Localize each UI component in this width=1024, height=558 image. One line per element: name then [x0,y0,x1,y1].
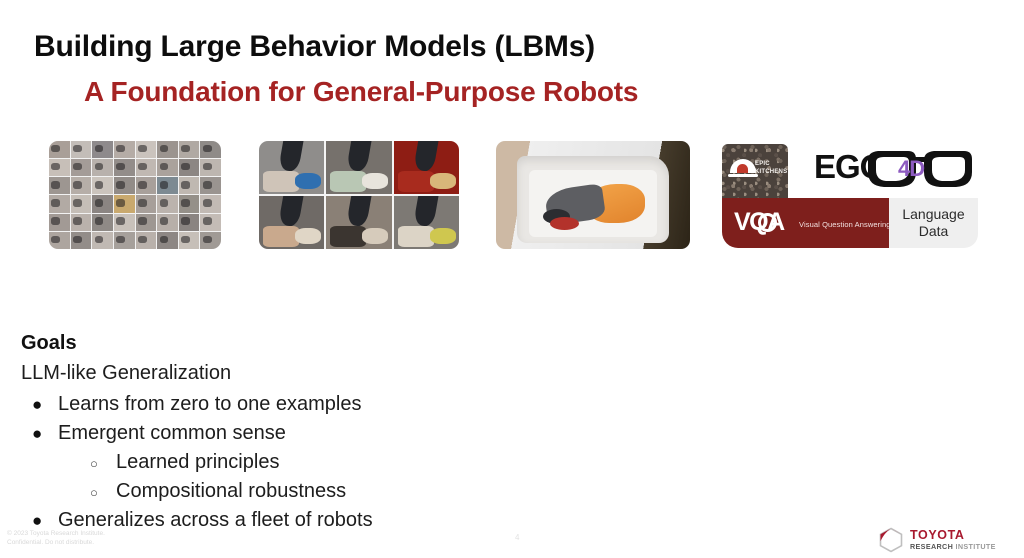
thumbnail-cell [136,141,157,158]
thumbnail-cell [136,232,157,249]
robot-arm-shape [278,141,303,172]
list-item: ○ Learned principles [21,448,621,477]
thumbnail-cell [114,214,135,231]
task-cell [326,141,391,194]
bullet-icon: ○ [90,478,116,507]
robot-arm-shape [346,196,371,227]
thumbnail-cell [114,195,135,212]
epic-kitchens-line2: KITCHENS [755,168,787,176]
epic-kitchens-logo: EPIC KITCHENS [722,144,788,202]
thumbnail-cell [200,214,221,231]
thumbnail-cell [49,195,70,212]
thumbnail-cell [179,214,200,231]
thumbnail-cell [200,141,221,158]
task-cell [394,141,459,194]
toyota-research-institute-logo: TOYOTA RESEARCH INSTITUTE [878,526,1002,553]
task-grid [259,141,459,249]
tri-sub-light: INSTITUTE [953,542,996,551]
object-shape [295,173,321,189]
task-cell [259,196,324,249]
dataset-thumbnail-grid-image [49,141,221,249]
slide-canvas: Building Large Behavior Models (LBMs) A … [0,0,1024,558]
list-item: ○ Compositional robustness [21,477,621,506]
list-item: ● Emergent common sense [21,419,621,448]
thumbnail-cell [71,159,92,176]
list-item: ● Learns from zero to one examples [21,390,621,419]
object-shape [330,226,366,247]
image-strip: EPIC KITCHENS EGO 4D VQA [0,138,1024,258]
language-data-text: Language Data [902,206,964,240]
object-shape [430,228,456,244]
thumbnail-cell [179,159,200,176]
data-source-logos: EPIC KITCHENS EGO 4D VQA [722,138,978,254]
thumbnail-cell [136,177,157,194]
thumbnail-cell [157,177,178,194]
thumbnail-cell [71,195,92,212]
robot-arm-shape [346,141,371,172]
robot-arm-shape [413,141,438,172]
thumbnail-cell [179,195,200,212]
thumbnail-cell [179,232,200,249]
object-shape [263,226,299,247]
epic-kitchens-line1: EPIC [755,160,787,168]
thumbnail-cell [114,232,135,249]
robot-arm-shape [278,196,303,227]
list-item-label: Compositional robustness [116,477,346,506]
object-shape [398,226,434,247]
thumbnail-cell [114,177,135,194]
thumbnail-cell [200,177,221,194]
thumbnail-cell [71,232,92,249]
bullet-icon: ● [32,390,58,419]
thumbnail-cell [114,159,135,176]
cloche-base-icon [728,174,758,177]
list-item: ● Generalizes across a fleet of robots [21,506,621,535]
tri-subtitle: RESEARCH INSTITUTE [910,542,996,551]
object-shape [330,171,366,192]
thumbnail-cell [49,214,70,231]
page-subtitle: A Foundation for General-Purpose Robots [84,76,638,108]
goals-heading: Goals [21,332,77,355]
thumbnail-cell [136,195,157,212]
thumbnail-cell [92,232,113,249]
thumbnail-grid [49,141,221,249]
epic-kitchens-label: EPIC KITCHENS [755,160,787,176]
thumbnail-cell [200,159,221,176]
thumbnail-cell [49,177,70,194]
goals-list: ● Learns from zero to one examples ● Eme… [21,390,621,535]
list-item-label: Generalizes across a fleet of robots [58,506,373,535]
thumbnail-cell [179,177,200,194]
ego4d-4d-text: 4D [898,156,924,182]
thumbnail-cell [157,214,178,231]
thumbnail-cell [136,214,157,231]
thumbnail-cell [92,177,113,194]
object-shape [263,171,299,192]
robot-arm-shape [413,196,438,227]
vqa-ring-icon [758,213,777,232]
thumbnail-cell [49,159,70,176]
thumbnail-cell [157,195,178,212]
object-shape [295,228,321,244]
page-number: 4 [515,533,519,542]
object-shape [362,173,388,189]
cloche-icon [730,159,756,173]
thumbnail-cell [200,232,221,249]
tri-sub-bold: RESEARCH [910,542,953,551]
goals-lead-line: LLM-like Generalization [21,362,231,385]
thumbnail-cell [49,232,70,249]
thumbnail-cell [200,195,221,212]
object-shape [362,228,388,244]
language-data-badge: Language Data [889,198,978,248]
bullet-icon: ○ [90,449,116,478]
red-object-shape [550,217,579,230]
vqa-full-name: Visual Question Answering [799,220,891,229]
task-cell [326,196,391,249]
thumbnail-cell [71,141,92,158]
list-item-label: Learned principles [116,448,279,477]
gripper-picking-object-image [496,141,690,249]
thumbnail-cell [92,214,113,231]
tri-hexagon-icon [878,527,904,553]
thumbnail-cell [136,159,157,176]
thumbnail-cell [92,195,113,212]
thumbnail-cell [92,159,113,176]
thumbnail-cell [114,141,135,158]
thumbnail-cell [71,177,92,194]
tri-wordmark: TOYOTA RESEARCH INSTITUTE [910,529,996,551]
thumbnail-cell [157,159,178,176]
thumbnail-cell [71,214,92,231]
object-shape [398,171,434,192]
thumbnail-cell [49,141,70,158]
tri-name: TOYOTA [910,529,996,542]
footer-copyright: © 2023 Toyota Research Institute. Confid… [7,529,105,547]
robot-manipulation-tasks-image [259,141,459,249]
ego4d-logo: EGO 4D [814,144,978,200]
page-title: Building Large Behavior Models (LBMs) [34,30,595,64]
thumbnail-cell [157,232,178,249]
task-cell [394,196,459,249]
list-item-label: Emergent common sense [58,419,286,448]
task-cell [259,141,324,194]
thumbnail-cell [179,141,200,158]
thumbnail-cell [157,141,178,158]
thumbnail-cell [92,141,113,158]
bullet-icon: ● [32,419,58,448]
vqa-logo: VQA Visual Question Answering [722,198,889,248]
list-item-label: Learns from zero to one examples [58,390,362,419]
object-shape [430,173,456,189]
